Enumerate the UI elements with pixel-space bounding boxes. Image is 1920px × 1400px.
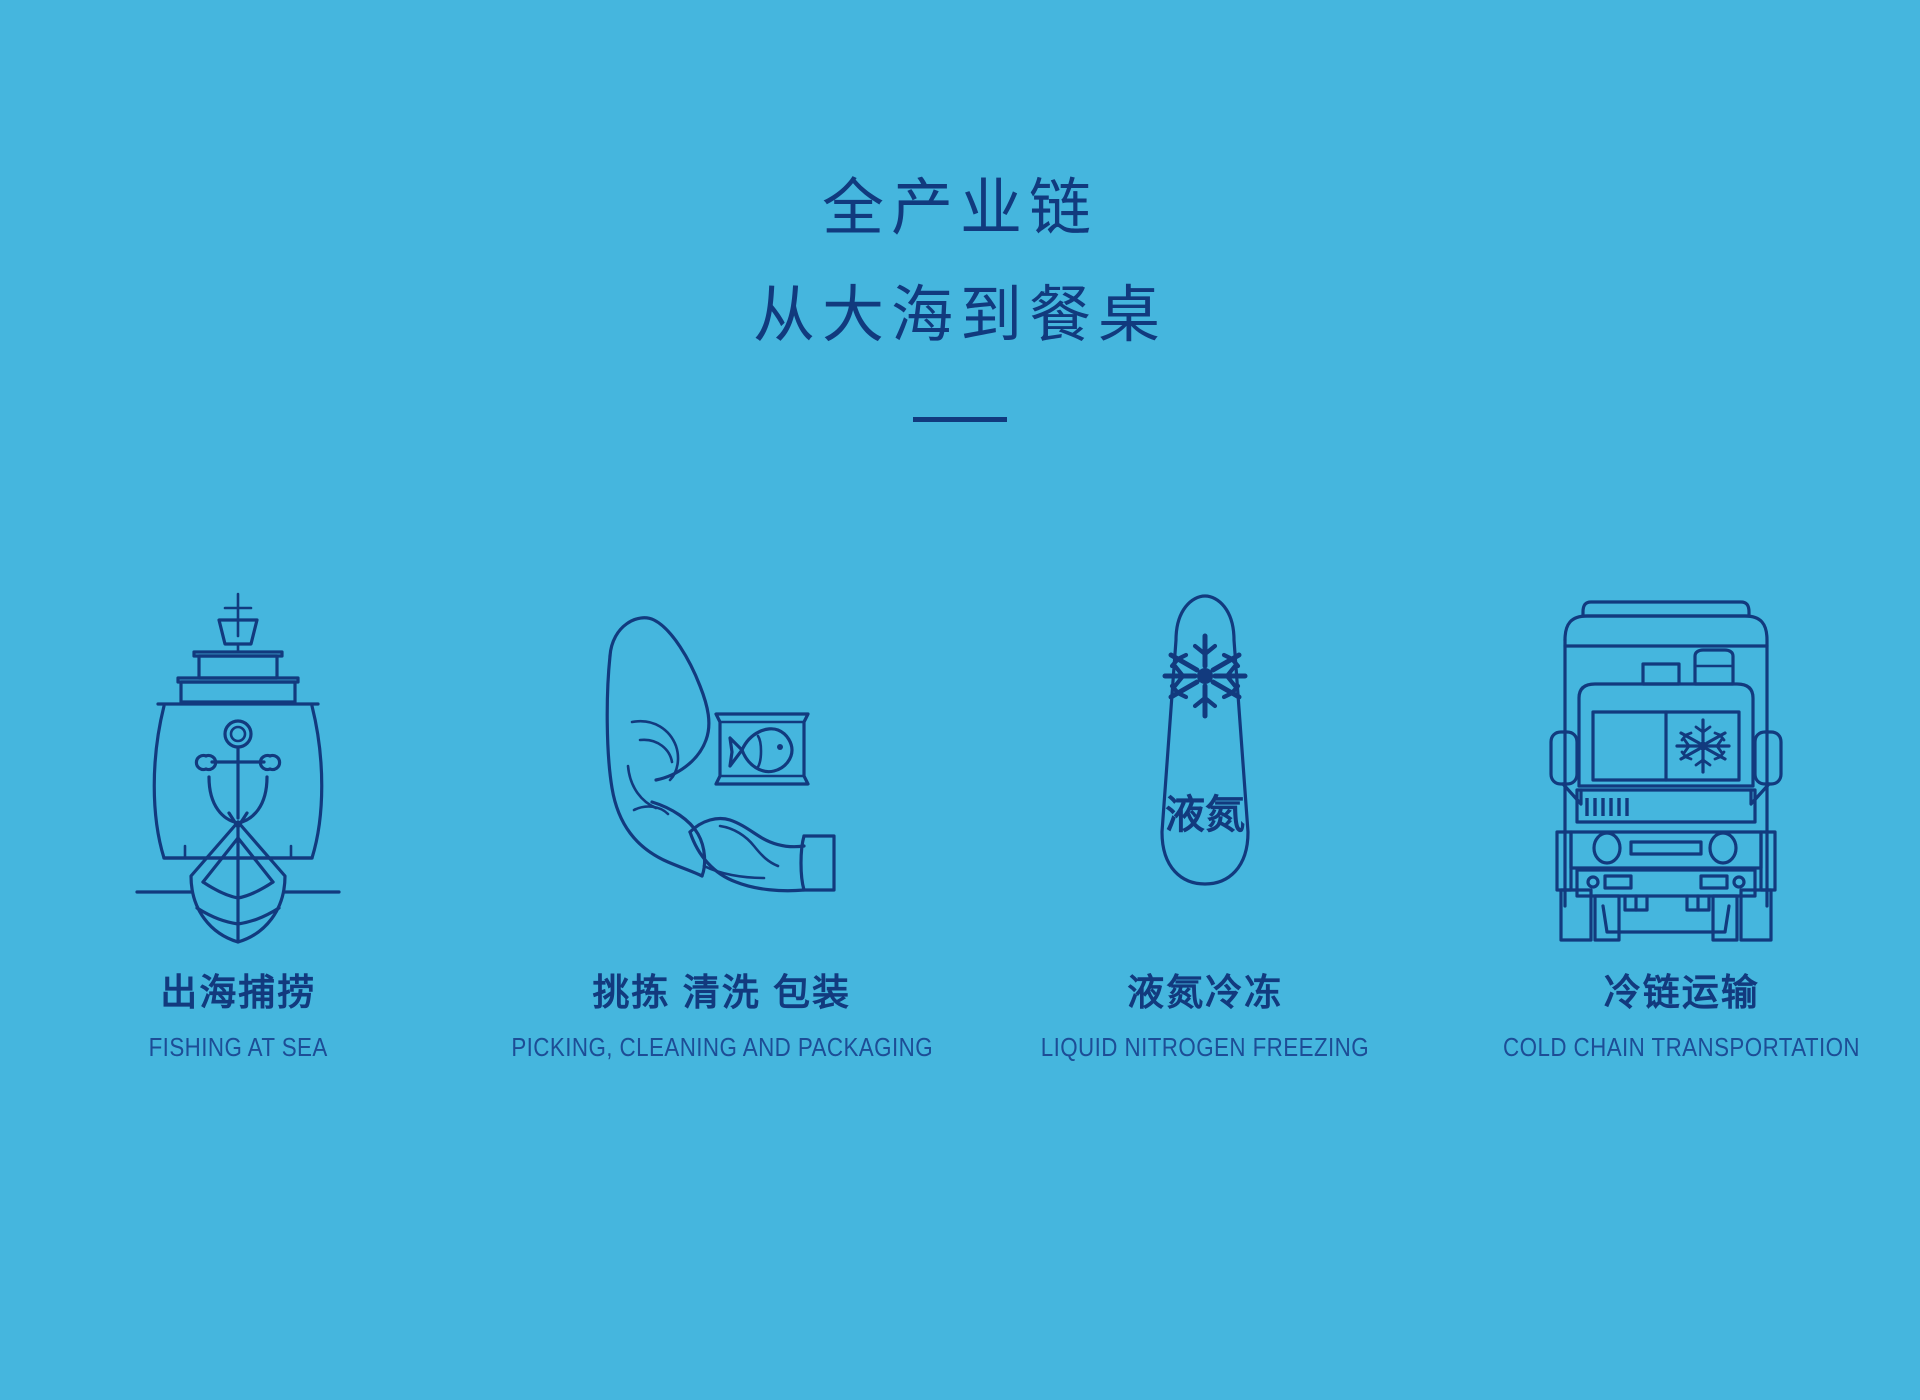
step-cold-chain-transportation[interactable]: 冷链运输 COLD CHAIN TRANSPORTATION — [1443, 520, 1920, 1063]
liquid-nitrogen-tank-icon-box: 液氮 — [1130, 520, 1280, 900]
snowflake-icon — [1677, 720, 1729, 772]
title-divider-wrap — [0, 409, 1920, 427]
step-label-en: FISHING AT SEA — [149, 1032, 328, 1063]
step-label-en: LIQUID NITROGEN FREEZING — [1041, 1032, 1369, 1063]
step-label-zh: 出海捕捞 — [160, 962, 316, 1016]
liquid-nitrogen-tank-icon: 液氮 — [1130, 580, 1280, 900]
step-label-zh: 冷链运输 — [1604, 962, 1760, 1016]
page-title-line-1: 全产业链 — [0, 168, 1920, 249]
fishing-boat-icon — [133, 590, 343, 900]
refrigerated-truck-icon-box — [1547, 520, 1817, 900]
step-fishing-at-sea[interactable]: 出海捕捞 FISHING AT SEA — [0, 520, 477, 1063]
title-divider — [913, 417, 1007, 422]
page-root: 全产业链 从大海到餐桌 — [0, 0, 1920, 1400]
step-liquid-nitrogen-freezing[interactable]: 液氮 液氮冷冻 LIQUID NITROGEN FREEZING — [967, 520, 1444, 1063]
fishing-boat-icon-box — [133, 520, 343, 900]
tank-label-text: 液氮 — [1165, 793, 1245, 837]
hands-packaged-fish-icon-box — [572, 520, 872, 900]
step-label-en: COLD CHAIN TRANSPORTATION — [1503, 1032, 1860, 1063]
step-label-zh: 液氮冷冻 — [1127, 962, 1283, 1016]
hands-packaged-fish-icon — [572, 590, 872, 900]
step-picking-cleaning-packaging[interactable]: 挑拣 清洗 包装 PICKING, CLEANING AND PACKAGING — [477, 520, 967, 1063]
refrigerated-truck-icon — [1547, 590, 1817, 900]
step-label-zh: 挑拣 清洗 包装 — [592, 962, 851, 1016]
process-steps: 出海捕捞 FISHING AT SEA — [0, 520, 1920, 1063]
page-header: 全产业链 从大海到餐桌 — [0, 168, 1920, 427]
page-title-line-2: 从大海到餐桌 — [0, 275, 1920, 356]
step-label-en: PICKING, CLEANING AND PACKAGING — [511, 1032, 933, 1063]
